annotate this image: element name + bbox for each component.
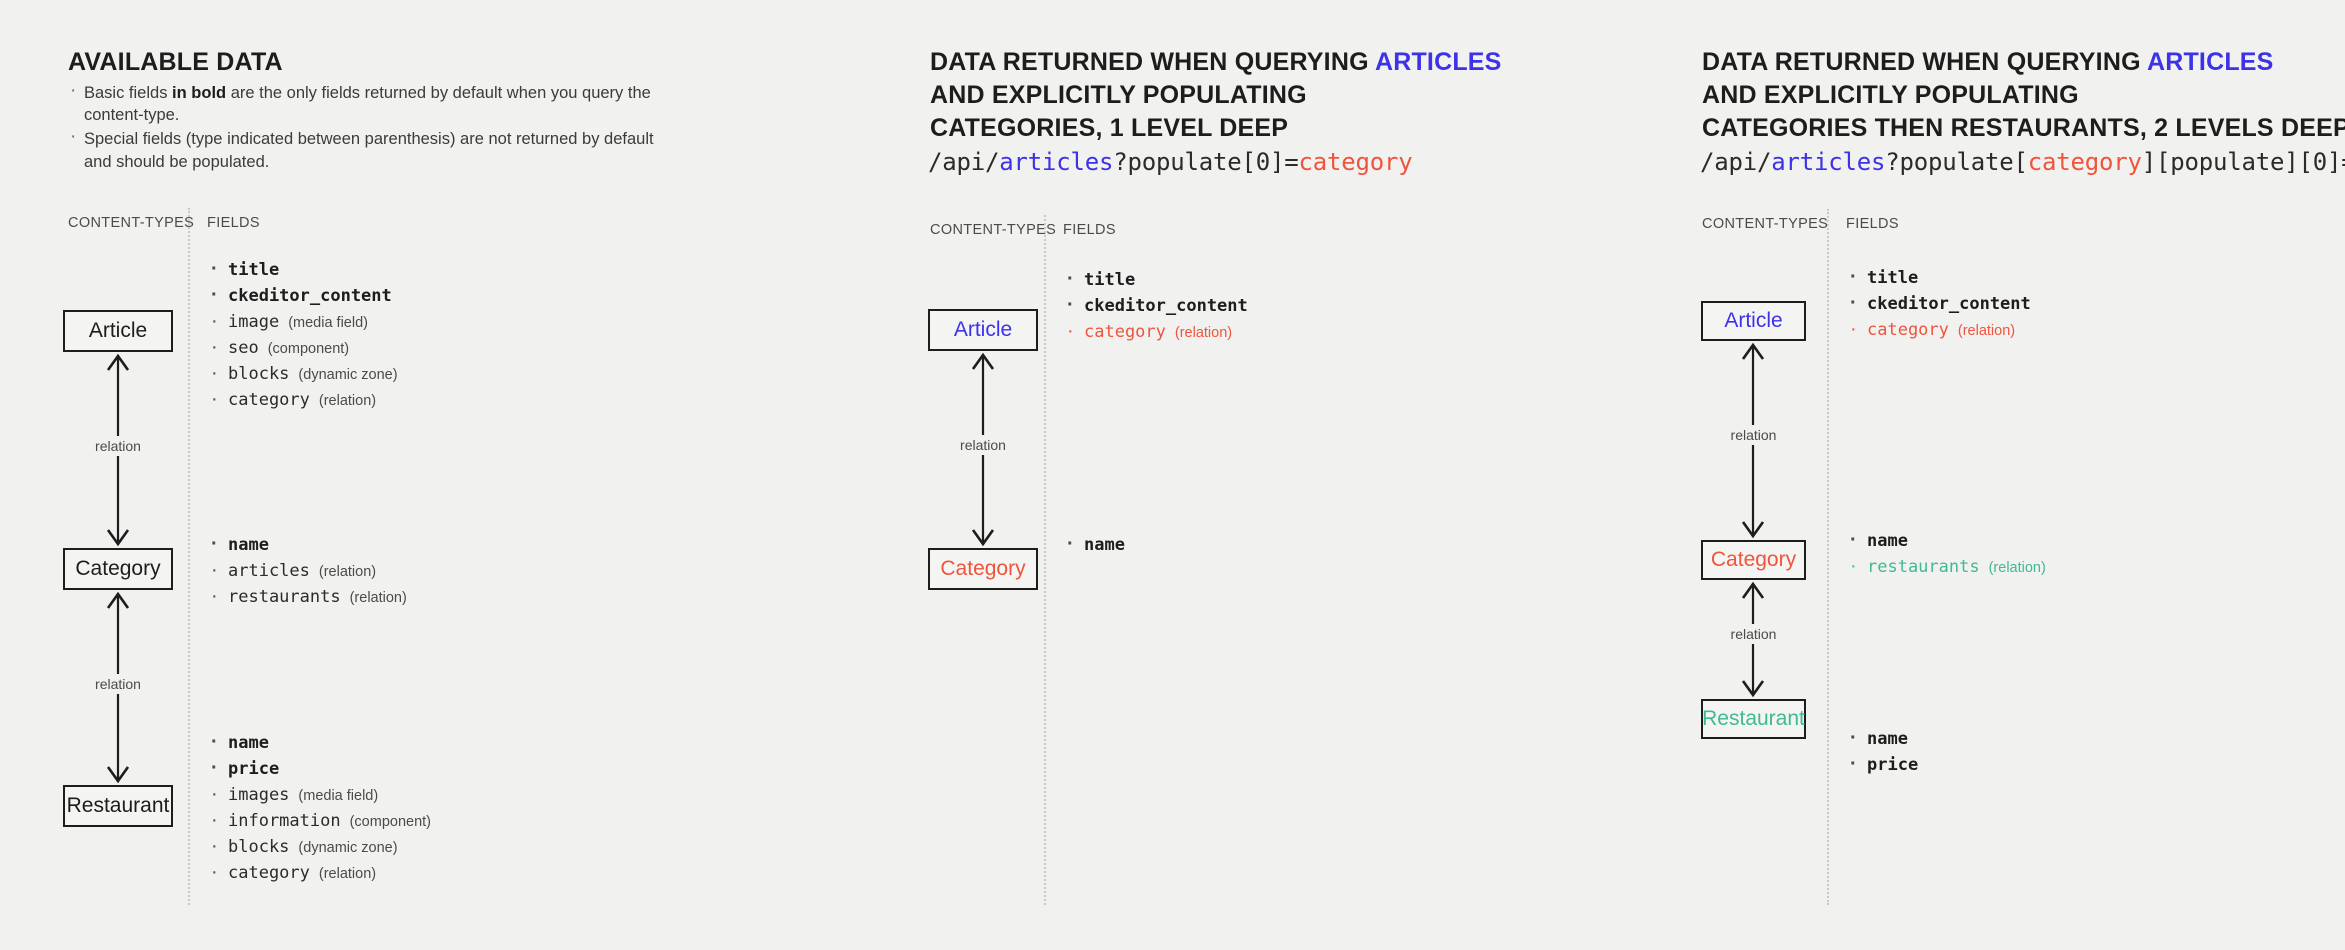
field-row: title xyxy=(1064,268,1257,294)
panel1-caption-content-types: CONTENT-TYPES xyxy=(68,215,194,231)
panel3-heading-line2: AND EXPLICITLY POPULATING xyxy=(1702,79,2079,112)
note-item: Special fields (type indicated between p… xyxy=(66,128,666,173)
entity-label: Article xyxy=(954,318,1012,342)
field-name: restaurants xyxy=(228,587,341,607)
field-row: price xyxy=(1847,753,1927,779)
field-name: restaurants xyxy=(1867,557,1980,577)
field-type: (relation) xyxy=(1989,560,2046,576)
url-segment-populate-open: ?populate[ xyxy=(1885,148,2028,176)
field-name: name xyxy=(228,733,269,753)
relation-label: relation xyxy=(90,436,146,456)
heading-accent-articles: ARTICLES xyxy=(1375,48,1502,76)
entity-box-restaurant[interactable]: Restaurant xyxy=(63,785,173,827)
panel2-api-url: /api/articles?populate[0]=category xyxy=(928,148,1413,176)
entity-label: Category xyxy=(940,557,1025,581)
panel2-caption-fields: FIELDS xyxy=(1063,222,1116,238)
relation-arrow-category-restaurant: relation xyxy=(1701,580,1806,699)
field-type: (media field) xyxy=(298,788,378,804)
field-row: name xyxy=(1847,727,1927,753)
relation-arrow-article-category: relation xyxy=(1701,341,1806,540)
panel1-column-divider xyxy=(188,208,190,905)
field-row: price xyxy=(208,757,431,783)
panel3-fields-article: title ckeditor_content category(relation… xyxy=(1847,266,2040,344)
panel1-fields-restaurant: name price images(media field) informati… xyxy=(208,731,431,887)
field-type: (dynamic zone) xyxy=(298,367,397,383)
panel2-heading-line3: CATEGORIES, 1 LEVEL DEEP xyxy=(930,112,1288,145)
url-segment-articles: articles xyxy=(999,148,1113,176)
panel2-heading-line1: DATA RETURNED WHEN QUERYING ARTICLES xyxy=(930,46,1502,79)
field-row: ckeditor_content xyxy=(1064,294,1257,320)
field-row: ckeditor_content xyxy=(1847,292,2040,318)
entity-box-article[interactable]: Article xyxy=(1701,301,1806,341)
url-segment-path: /api/ xyxy=(928,148,999,176)
panel3-fields-restaurant: name price xyxy=(1847,727,1927,779)
field-name: blocks xyxy=(228,364,289,384)
panel-query-1-level: DATA RETURNED WHEN QUERYING ARTICLES AND… xyxy=(855,0,1645,950)
panel1-caption-fields: FIELDS xyxy=(207,215,260,231)
relation-arrow-article-category: relation xyxy=(63,352,173,548)
field-name: category xyxy=(228,863,310,883)
panel-available-data: AVAILABLE DATA Basic fields in bold are … xyxy=(0,0,855,950)
field-row: name xyxy=(1847,529,2046,555)
panel3-heading-line3: CATEGORIES THEN RESTAURANTS, 2 LEVELS DE… xyxy=(1702,112,2345,145)
field-type: (relation) xyxy=(319,393,376,409)
field-name: ckeditor_content xyxy=(1867,294,2031,314)
panel2-fields-category: name xyxy=(1064,533,1134,559)
entity-label: Article xyxy=(1724,309,1782,333)
field-row: ckeditor_content xyxy=(208,284,401,310)
field-row: restaurants(relation) xyxy=(208,585,407,611)
panel3-api-url: /api/articles?populate[category][populat… xyxy=(1700,148,2345,176)
panel1-heading: AVAILABLE DATA xyxy=(68,46,283,79)
field-name: title xyxy=(228,260,279,280)
url-segment-populate: ?populate[0]= xyxy=(1113,148,1298,176)
note-text-pre: Basic fields xyxy=(84,84,172,102)
field-row: restaurants(relation) xyxy=(1847,555,2046,581)
relation-label: relation xyxy=(90,674,146,694)
field-row: articles(relation) xyxy=(208,559,407,585)
field-type: (relation) xyxy=(1958,323,2015,339)
field-row: seo(component) xyxy=(208,336,401,362)
field-row: category(relation) xyxy=(1064,320,1257,346)
field-row: category(relation) xyxy=(208,388,401,414)
field-row: name xyxy=(208,731,431,757)
field-row: name xyxy=(208,533,407,559)
panel3-caption-content-types: CONTENT-TYPES xyxy=(1702,216,1828,232)
panel1-notes: Basic fields in bold are the only fields… xyxy=(66,82,666,175)
heading-text: DATA RETURNED WHEN QUERYING xyxy=(930,48,1375,76)
entity-box-article[interactable]: Article xyxy=(928,309,1038,351)
field-name: information xyxy=(228,811,341,831)
panel1-fields-article: title ckeditor_content image(media field… xyxy=(208,258,401,414)
heading-accent-articles: ARTICLES xyxy=(2147,48,2274,76)
heading-text: DATA RETURNED WHEN QUERYING xyxy=(1702,48,2147,76)
panel1-fields-category: name articles(relation) restaurants(rela… xyxy=(208,533,407,611)
note-text-bold: in bold xyxy=(172,84,226,102)
field-name: name xyxy=(1867,531,1908,551)
field-type: (relation) xyxy=(350,590,407,606)
field-row: name xyxy=(1064,533,1134,559)
field-name: image xyxy=(228,312,279,332)
entity-label: Category xyxy=(1711,548,1796,572)
field-row: blocks(dynamic zone) xyxy=(208,835,431,861)
relation-arrow-category-restaurant: relation xyxy=(63,590,173,785)
relation-label: relation xyxy=(1726,425,1782,445)
field-row: information(component) xyxy=(208,809,431,835)
field-name: images xyxy=(228,785,289,805)
relation-label: relation xyxy=(1726,624,1782,644)
field-row: images(media field) xyxy=(208,783,431,809)
field-name: category xyxy=(1084,322,1166,342)
field-name: name xyxy=(1084,535,1125,555)
diagram-page: AVAILABLE DATA Basic fields in bold are … xyxy=(0,0,2345,950)
field-name: ckeditor_content xyxy=(1084,296,1248,316)
field-row: category(relation) xyxy=(1847,318,2040,344)
field-type: (component) xyxy=(268,341,349,357)
field-type: (media field) xyxy=(288,315,368,331)
panel2-column-divider xyxy=(1044,215,1046,905)
panel2-caption-content-types: CONTENT-TYPES xyxy=(930,222,1056,238)
panel3-heading-line1: DATA RETURNED WHEN QUERYING ARTICLES xyxy=(1702,46,2274,79)
panel-query-2-levels: DATA RETURNED WHEN QUERYING ARTICLES AND… xyxy=(1645,0,2345,950)
entity-label: Restaurant xyxy=(67,794,170,818)
field-name: price xyxy=(1867,755,1918,775)
url-segment-path: /api/ xyxy=(1700,148,1771,176)
panel2-heading-line2: AND EXPLICITLY POPULATING xyxy=(930,79,1307,112)
entity-box-category[interactable]: Category xyxy=(1701,540,1806,580)
field-name: seo xyxy=(228,338,259,358)
relation-label: relation xyxy=(955,435,1011,455)
field-name: category xyxy=(1867,320,1949,340)
field-type: (relation) xyxy=(319,564,376,580)
entity-label: Restaurant xyxy=(1702,707,1805,731)
relation-arrow-article-category: relation xyxy=(928,351,1038,548)
entity-label: Category xyxy=(75,557,160,581)
field-row: title xyxy=(1847,266,2040,292)
field-name: name xyxy=(1867,729,1908,749)
field-row: title xyxy=(208,258,401,284)
field-name: title xyxy=(1867,268,1918,288)
url-segment-category: category xyxy=(2028,148,2142,176)
field-name: price xyxy=(228,759,279,779)
field-name: blocks xyxy=(228,837,289,857)
note-text-pre: Special fields (type indicated between p… xyxy=(84,130,654,148)
field-type: (component) xyxy=(350,814,431,830)
url-segment-category: category xyxy=(1299,148,1413,176)
field-name: name xyxy=(228,535,269,555)
note-item: Basic fields in bold are the only fields… xyxy=(66,82,666,126)
entity-box-article[interactable]: Article xyxy=(63,310,173,352)
entity-box-category[interactable]: Category xyxy=(63,548,173,590)
field-name: title xyxy=(1084,270,1135,290)
field-name: ckeditor_content xyxy=(228,286,392,306)
entity-box-restaurant[interactable]: Restaurant xyxy=(1701,699,1806,739)
field-row: image(media field) xyxy=(208,310,401,336)
field-row: blocks(dynamic zone) xyxy=(208,362,401,388)
field-type: (relation) xyxy=(1175,325,1232,341)
url-segment-articles: articles xyxy=(1771,148,1885,176)
url-segment-populate-nested: ][populate][0]= xyxy=(2142,148,2345,176)
entity-box-category[interactable]: Category xyxy=(928,548,1038,590)
field-name: articles xyxy=(228,561,310,581)
field-name: category xyxy=(228,390,310,410)
field-type: (dynamic zone) xyxy=(298,840,397,856)
field-row: category(relation) xyxy=(208,861,431,887)
note-text-continuation: and should be populated. xyxy=(84,151,666,173)
panel3-column-divider xyxy=(1827,209,1829,905)
panel2-fields-article: title ckeditor_content category(relation… xyxy=(1064,268,1257,346)
panel3-fields-category: name restaurants(relation) xyxy=(1847,529,2046,581)
panel3-caption-fields: FIELDS xyxy=(1846,216,1899,232)
field-type: (relation) xyxy=(319,866,376,882)
entity-label: Article xyxy=(89,319,147,343)
